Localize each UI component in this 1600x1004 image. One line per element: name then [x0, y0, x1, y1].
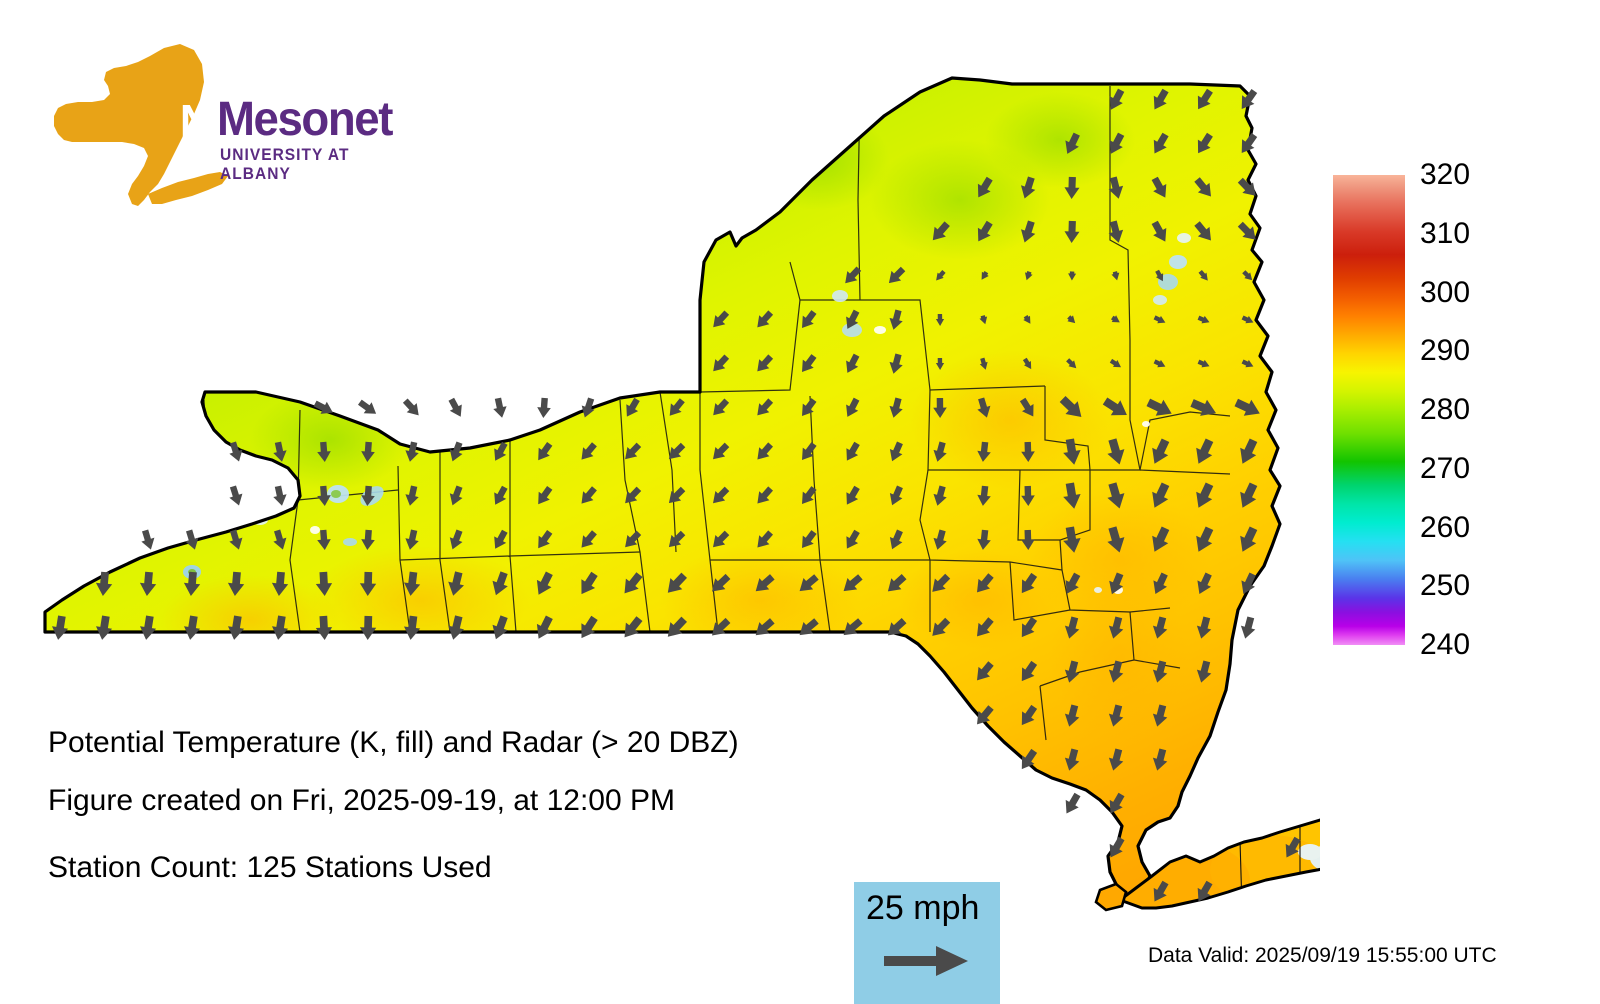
colorbar-tick-290: 290 [1420, 336, 1470, 366]
logo-mesonet-text: Mesonet [217, 92, 392, 147]
wind-arrow [229, 486, 242, 506]
wind-legend-label: 25 mph [866, 889, 979, 928]
nys-mesonet-logo: NYS Mesonet UNIVERSITY AT ALBANY [52, 42, 397, 212]
wind-scale-legend: 25 mph [854, 882, 1000, 1004]
colorbar-gradient [1333, 175, 1405, 645]
colorbar-tick-250: 250 [1420, 571, 1470, 601]
caption-title: Potential Temperature (K, fill) and Rada… [48, 728, 739, 758]
colorbar-tick-310: 310 [1420, 219, 1470, 249]
staten-island [1096, 884, 1126, 910]
colorbar-tick-320: 320 [1420, 160, 1470, 190]
caption-created: Figure created on Fri, 2025-09-19, at 12… [48, 786, 675, 816]
wind-arrow [1066, 793, 1081, 814]
wind-arrow [403, 399, 419, 416]
wind-arrow [493, 398, 506, 418]
logo-subtitle: UNIVERSITY AT ALBANY [220, 146, 386, 184]
colorbar-tick-280: 280 [1420, 395, 1470, 425]
wind-arrow [537, 398, 551, 418]
data-valid-timestamp: Data Valid: 2025/09/19 15:55:00 UTC [1148, 944, 1497, 968]
wind-arrow [273, 486, 286, 506]
wind-arrow [141, 530, 154, 550]
right-arrow-icon [884, 944, 970, 978]
caption-station-count: Station Count: 125 Stations Used [48, 853, 492, 883]
temperature-colorbar [1333, 175, 1405, 645]
wind-arrow [358, 400, 376, 414]
wind-arrow [1241, 617, 1255, 639]
colorbar-tick-300: 300 [1420, 278, 1470, 308]
colorbar-tick-260: 260 [1420, 513, 1470, 543]
colorbar-tick-240: 240 [1420, 630, 1470, 660]
wind-arrow [449, 398, 462, 417]
colorbar-tick-270: 270 [1420, 454, 1470, 484]
